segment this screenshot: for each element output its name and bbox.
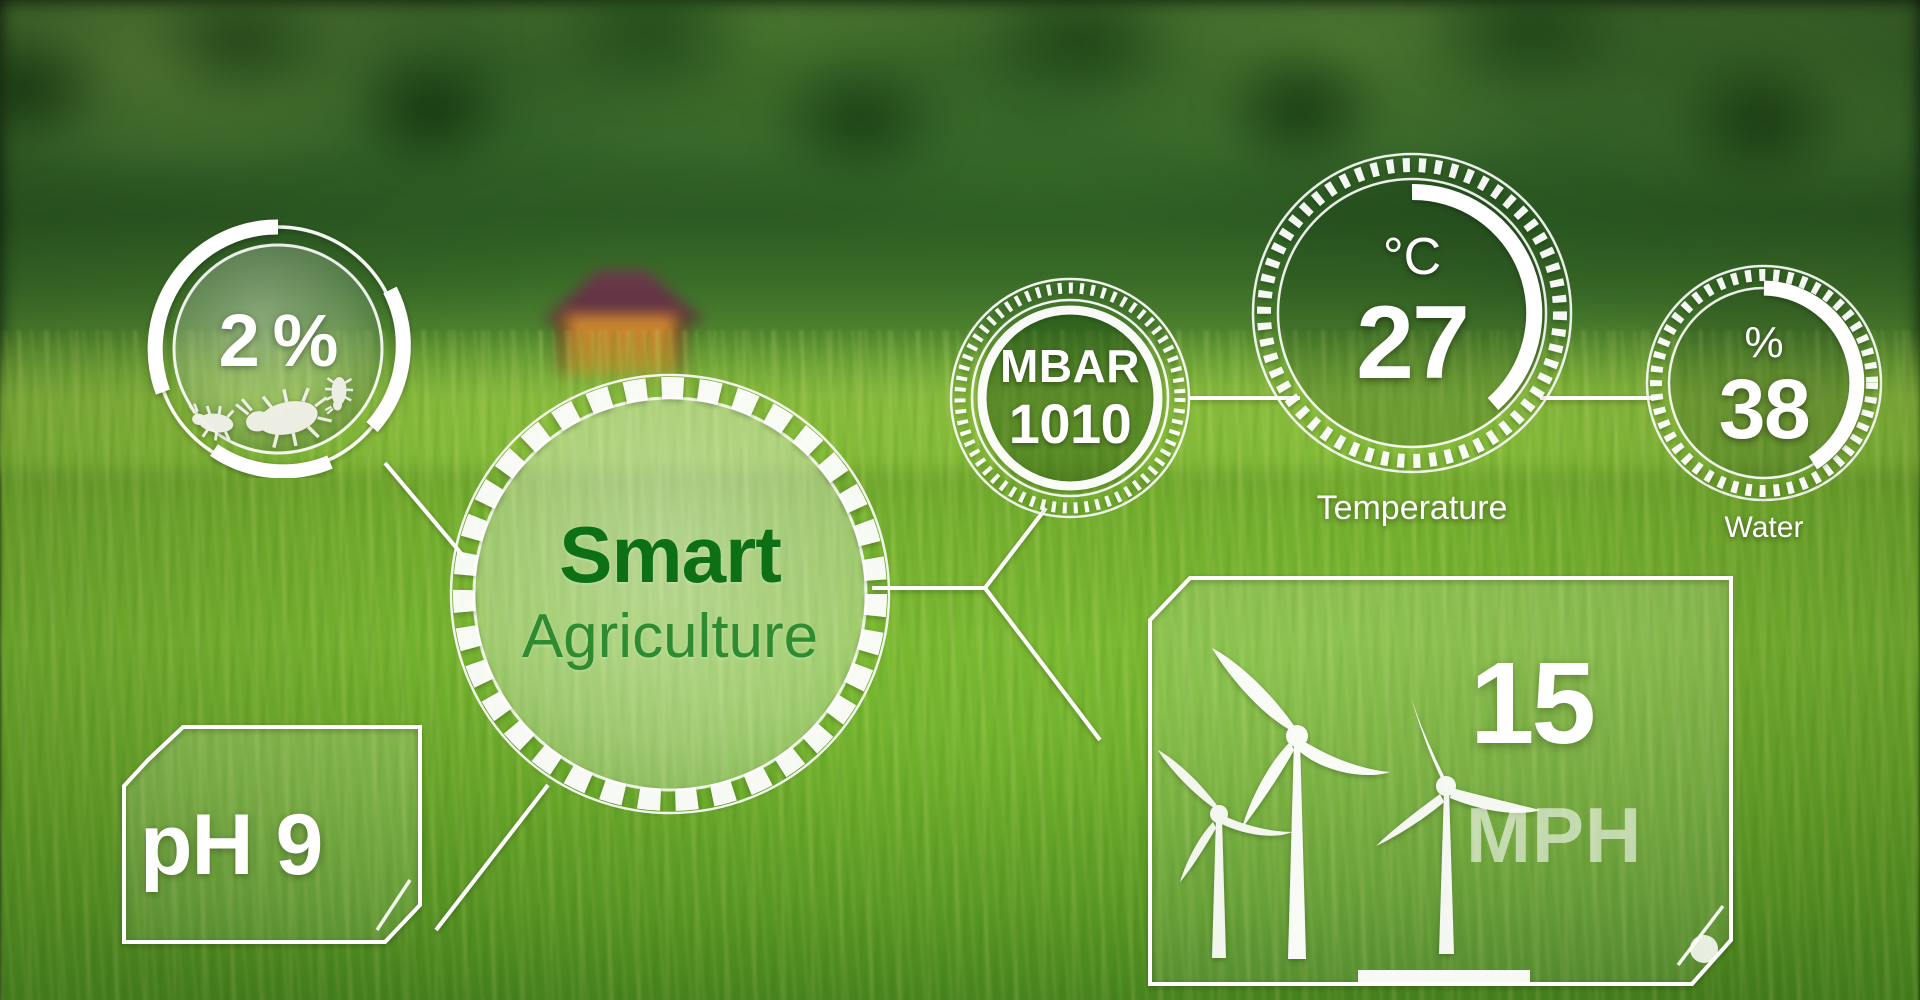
hud-overlay — [0, 0, 1920, 1000]
soil-ph-panel[interactable] — [124, 727, 420, 942]
smart-agriculture-core[interactable] — [451, 375, 889, 813]
connector-junction-to-wind — [985, 588, 1100, 740]
wind-speed-panel[interactable] — [1150, 578, 1731, 986]
core-disc — [474, 398, 866, 790]
pest-level-gauge[interactable] — [155, 227, 403, 471]
barometric-pressure-gauge[interactable] — [951, 279, 1189, 517]
connector-core-to-ph — [436, 785, 548, 930]
temperature-dial — [1278, 179, 1546, 447]
connector-junction-to-pressure — [985, 508, 1046, 588]
wind-panel-status-dot — [1690, 935, 1718, 963]
water-level-gauge[interactable] — [1647, 266, 1881, 500]
pressure-inner-ring — [982, 310, 1158, 486]
wind-panel-bottom-bar — [1358, 970, 1530, 986]
ph-panel-fill — [124, 727, 420, 942]
connector-pest-to-core — [385, 463, 465, 558]
temperature-gauge[interactable] — [1253, 154, 1571, 472]
smart-agriculture-infographic: 2 % Smart Agriculture MBAR 1010 °C 27 Te… — [0, 0, 1920, 1000]
